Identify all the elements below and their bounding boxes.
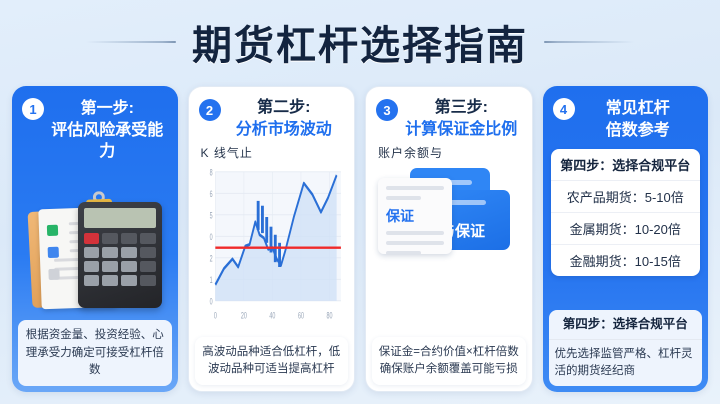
calculator-key-ac	[84, 233, 100, 244]
leverage-table: 第四步：选择合规平台 农产品期货：5-10倍 金属期货：10-20倍 金融期货：…	[551, 149, 701, 276]
step-card-4[interactable]: 4 常见杠杆 倍数参考 第四步：选择合规平台 农产品期货：5-10倍 金属期货：…	[543, 86, 709, 392]
card-4-footer-body: 优先选择监管严格、杠杆灵活的期货经纪商	[549, 340, 703, 387]
step-card-3[interactable]: 3 第三步: 计算保证金比例 账户余额与 与保证	[365, 86, 533, 392]
doc-line	[386, 186, 444, 190]
card-2-step-subtitle: 分析市场波动	[228, 119, 341, 141]
doc-line	[386, 231, 444, 235]
svg-text:20: 20	[240, 310, 246, 321]
page-title: 期货杠杆选择指南	[192, 13, 528, 71]
calculator-key	[84, 247, 100, 258]
card-3-footer: 保证金=合约价值×杠杆倍数确保账户余额覆盖可能亏损	[372, 337, 526, 386]
chart-svg: 8650210020406080	[201, 166, 345, 324]
card-2-footer: 高波动品种适合低杠杆，低波动品种可适当提高杠杆	[195, 337, 349, 386]
svg-text:40: 40	[269, 310, 275, 321]
title-rule-right	[544, 41, 634, 43]
svg-text:0: 0	[213, 310, 216, 321]
card-2-step-title: 第二步:	[228, 97, 341, 119]
checkbox-blue-icon	[48, 247, 59, 258]
svg-text:8: 8	[209, 167, 212, 178]
card-4-step-title: 常见杠杆	[582, 98, 695, 120]
card-3-head: 3 第三步: 计算保证金比例	[366, 87, 532, 140]
card-4-footer: 第四步：选择合规平台 优先选择监管严格、杠杆灵活的期货经纪商	[549, 310, 703, 386]
doc-line	[386, 241, 444, 245]
svg-text:0: 0	[209, 232, 212, 243]
step-badge-4: 4	[553, 98, 575, 120]
title-rule-left	[86, 41, 176, 43]
card-4-body: 第四步：选择合规平台 农产品期货：5-10倍 金属期货：10-20倍 金融期货：…	[543, 141, 709, 304]
card-1-titles: 第一步: 评估风险承受能力	[51, 98, 168, 163]
card-4-titles: 常见杠杆 倍数参考	[582, 98, 699, 141]
page-header: 期货杠杆选择指南	[0, 0, 720, 84]
leverage-table-row: 金属期货：10-20倍	[551, 213, 701, 245]
calculator-key	[84, 261, 100, 272]
card-4-footer-header: 第四步：选择合规平台	[549, 310, 703, 340]
card-3-titles: 第三步: 计算保证金比例	[405, 97, 522, 140]
card-3-step-title: 第三步:	[405, 97, 518, 119]
calculator-key	[84, 275, 100, 286]
card-2-head: 2 第二步: 分析市场波动	[189, 87, 355, 140]
step-badge-3: 3	[376, 99, 398, 121]
step-card-2[interactable]: 2 第二步: 分析市场波动 K 线气止 8650210020406080 高波动…	[188, 86, 356, 392]
card-1-body	[12, 163, 178, 314]
svg-text:1: 1	[209, 275, 212, 286]
calculator-key	[121, 275, 137, 286]
card-2-body: K 线气止 8650210020406080	[189, 140, 355, 330]
documents-icon: 与保证 保证	[366, 162, 532, 324]
calculator-key	[102, 261, 118, 272]
calculator-display	[84, 208, 156, 228]
calculator-key	[102, 233, 118, 244]
calculator-key	[121, 247, 137, 258]
doc-white-label: 保证	[386, 206, 444, 226]
leverage-table-row: 农产品期货：5-10倍	[551, 181, 701, 213]
card-3-body: 账户余额与 与保证 保证	[366, 140, 532, 330]
checkbox-gray-icon	[48, 269, 59, 280]
calculator-key	[140, 261, 156, 272]
svg-text:0: 0	[209, 296, 212, 307]
svg-text:80: 80	[326, 310, 332, 321]
svg-text:60: 60	[297, 310, 303, 321]
calculator-key	[121, 233, 137, 244]
calculator-key	[140, 275, 156, 286]
card-3-step-subtitle: 计算保证金比例	[405, 119, 518, 141]
svg-text:2: 2	[209, 253, 212, 264]
card-1-head: 1 第一步: 评估风险承受能力	[12, 86, 178, 163]
card-1-step-title: 第一步:	[51, 98, 164, 120]
step-badge-2: 2	[199, 99, 221, 121]
card-4-head: 4 常见杠杆 倍数参考	[543, 86, 709, 141]
chart-label: K 线气止	[189, 140, 355, 163]
card-1-footer: 根据资金量、投资经验、心理承受力确定可接受杠杆倍数	[18, 320, 172, 386]
card-1-step-subtitle: 评估风险承受能力	[51, 120, 164, 163]
calculator-key	[140, 233, 156, 244]
step-badge-1: 1	[22, 98, 44, 120]
doc-line	[386, 251, 421, 255]
leverage-table-row: 金融期货：10-15倍	[551, 245, 701, 276]
calculator-key	[121, 261, 137, 272]
calculator-keys	[84, 233, 156, 286]
clipboard-calculator-icon	[12, 192, 178, 310]
step-card-1[interactable]: 1 第一步: 评估风险承受能力	[12, 86, 178, 392]
svg-text:5: 5	[209, 210, 212, 221]
card-3-caption: 账户余额与	[366, 140, 532, 163]
card-2-titles: 第二步: 分析市场波动	[228, 97, 345, 140]
candlestick-chart: 8650210020406080	[201, 166, 345, 324]
calculator-key	[102, 247, 118, 258]
calculator-key	[140, 247, 156, 258]
doc-line	[386, 196, 421, 200]
checkbox-green-icon	[47, 225, 58, 236]
calculator-key	[102, 275, 118, 286]
card-rail: 1 第一步: 评估风险承受能力	[12, 86, 708, 392]
calculator-icon	[78, 202, 162, 308]
doc-paper-icon: 保证	[378, 178, 452, 254]
poster-root: 期货杠杆选择指南 1 第一步: 评估风险承受能力	[0, 0, 720, 404]
card-4-step-subtitle: 倍数参考	[582, 120, 695, 142]
svg-text:6: 6	[209, 189, 212, 200]
leverage-table-header: 第四步：选择合规平台	[551, 149, 701, 181]
